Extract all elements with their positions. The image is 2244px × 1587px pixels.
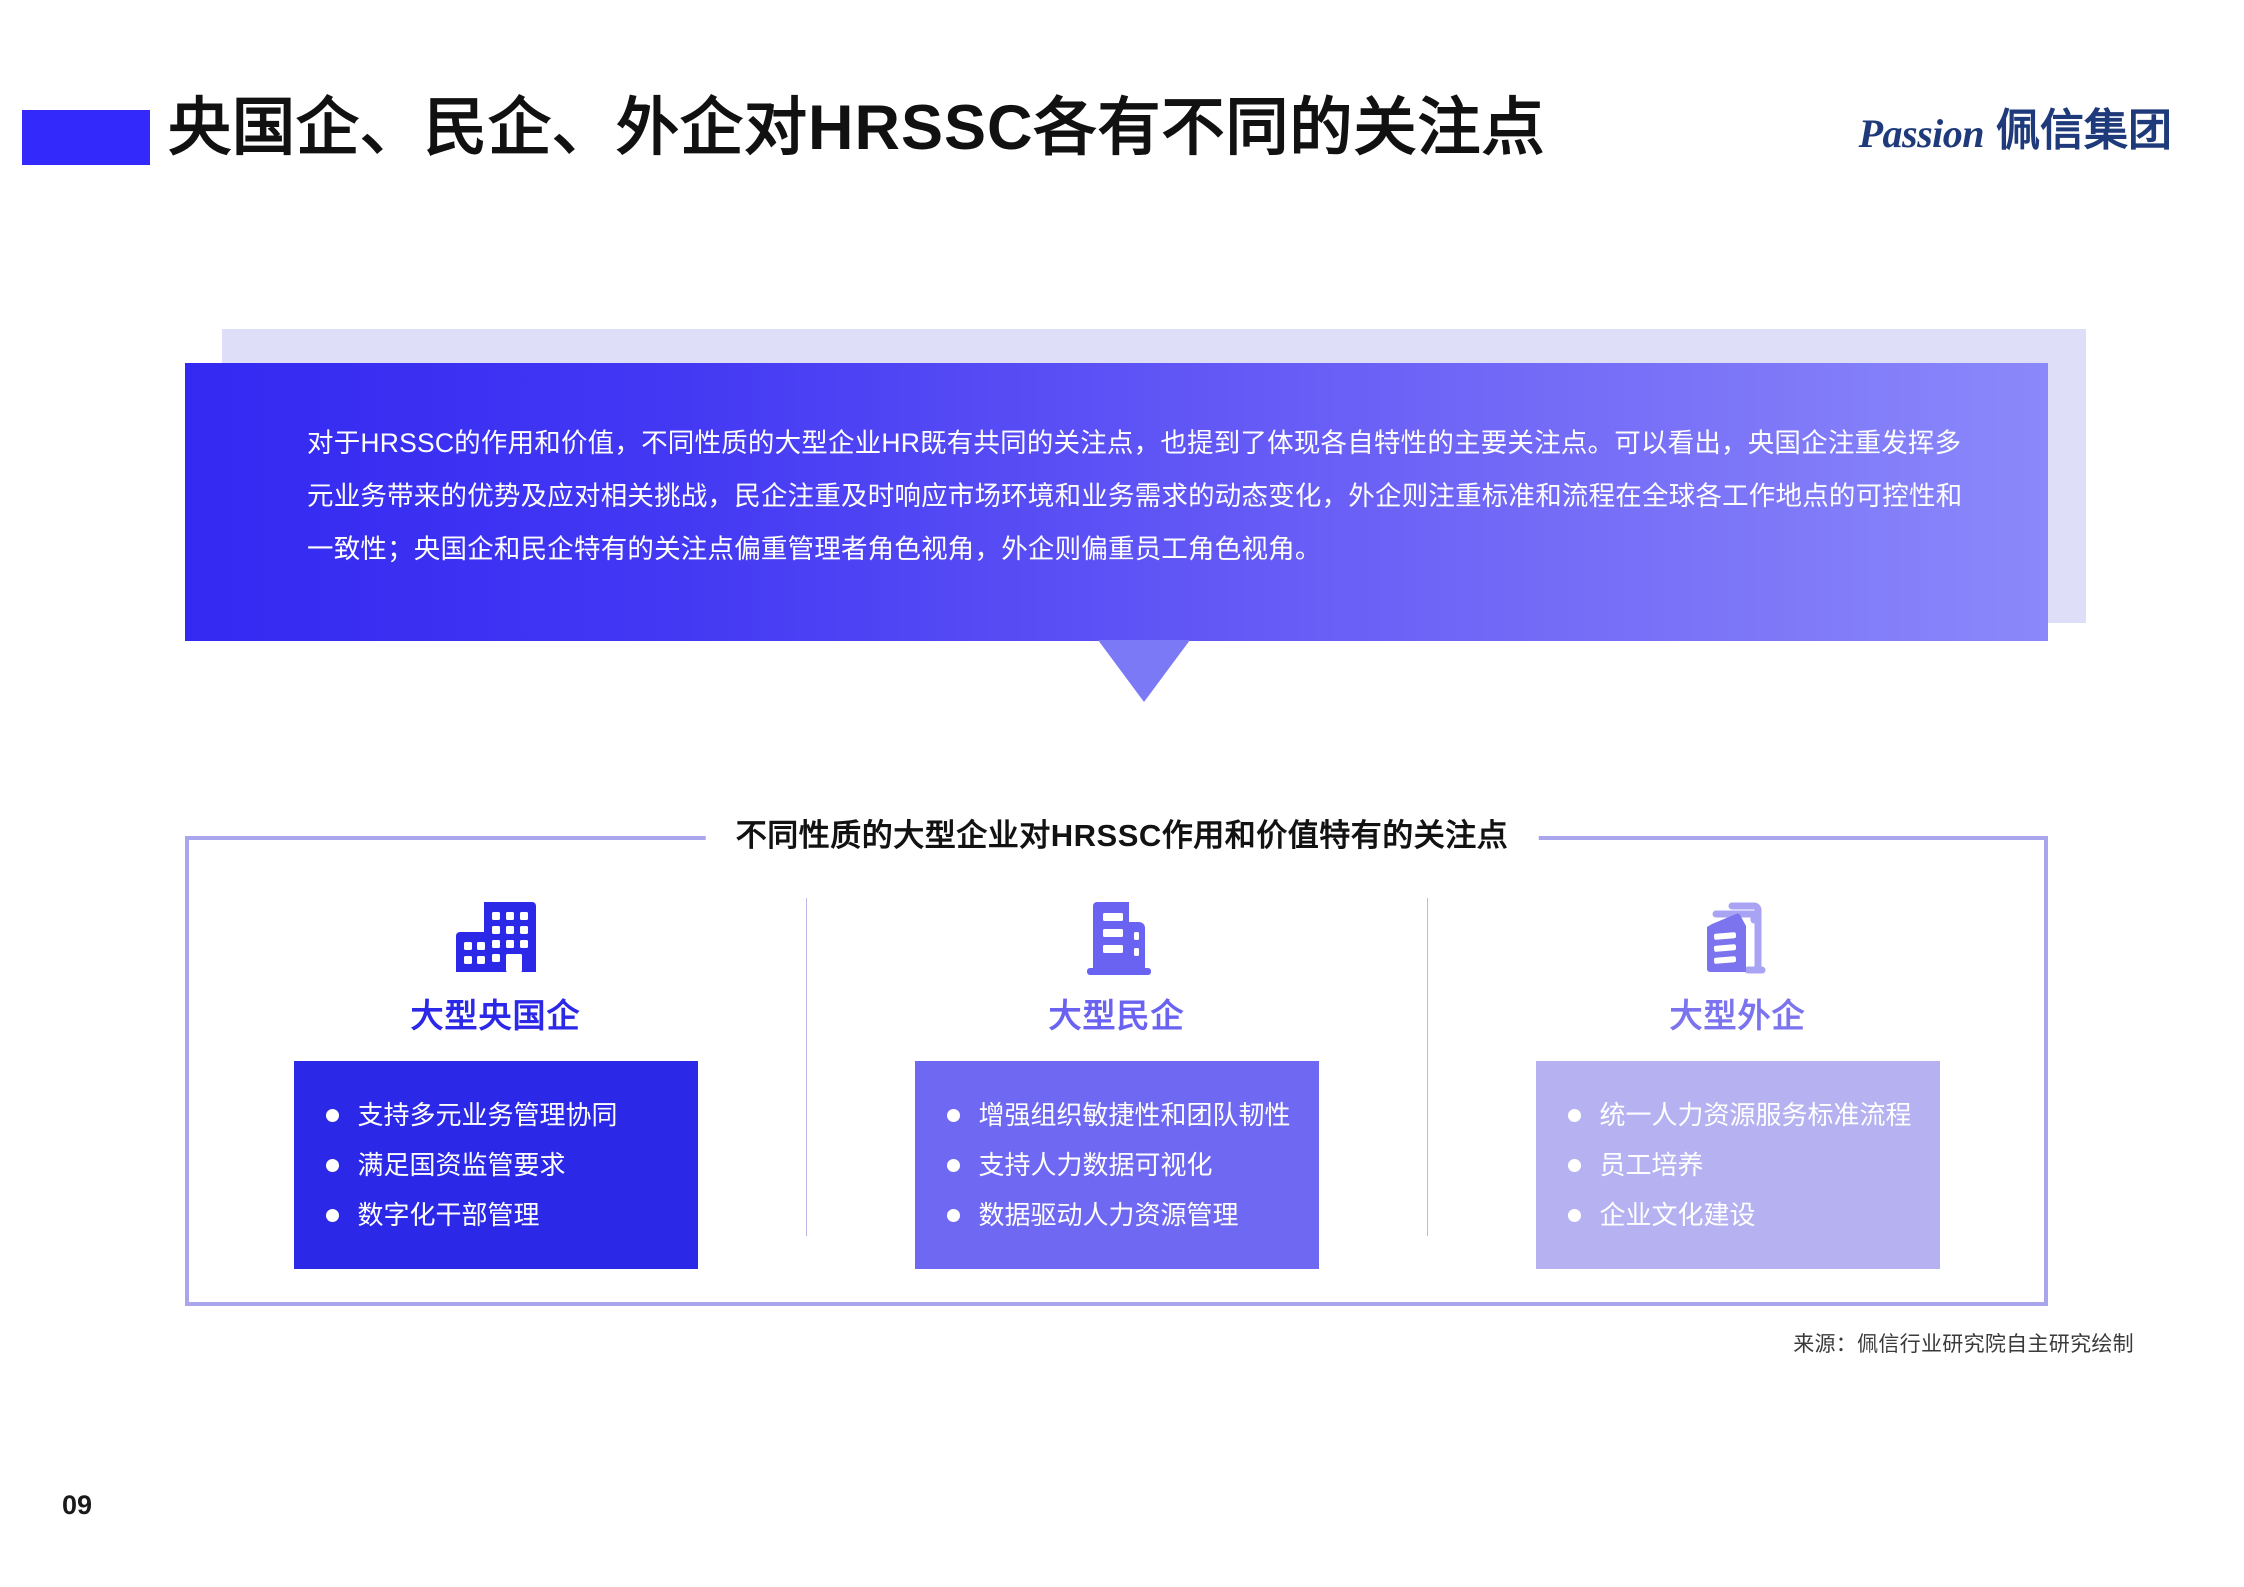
bullet-box-private-enterprise: 增强组织敏捷性和团队韧性 支持人力数据可视化 数据驱动人力资源管理 [915, 1061, 1319, 1269]
bullet-dot-icon [947, 1209, 960, 1222]
office-building-icon [454, 894, 538, 976]
bullet-dot-icon [1568, 1159, 1581, 1172]
intro-banner: 对于HRSSC的作用和价值，不同性质的大型企业HR既有共同的关注点，也提到了体现… [185, 363, 2048, 641]
list-item: 满足国资监管要求 [326, 1140, 668, 1190]
bullet-text: 支持人力数据可视化 [979, 1140, 1213, 1190]
banner-arrow-icon [1098, 640, 1190, 702]
bullet-dot-icon [947, 1159, 960, 1172]
bullet-text: 增强组织敏捷性和团队韧性 [979, 1090, 1291, 1140]
bullet-dot-icon [326, 1209, 339, 1222]
slide-root: 央国企、民企、外企对HRSSC各有不同的关注点 Passion 佩信集团 对于H… [0, 0, 2244, 1587]
bullet-text: 满足国资监管要求 [358, 1140, 566, 1190]
corporate-campus-icon [1696, 894, 1780, 976]
list-item: 支持人力数据可视化 [947, 1140, 1289, 1190]
bullet-dot-icon [326, 1159, 339, 1172]
list-item: 企业文化建设 [1568, 1190, 1910, 1240]
bullet-dot-icon [947, 1109, 960, 1122]
list-item: 支持多元业务管理协同 [326, 1090, 668, 1140]
page-number: 09 [62, 1490, 92, 1521]
list-item: 数据驱动人力资源管理 [947, 1190, 1289, 1240]
header-accent-mark [22, 110, 150, 165]
bullet-text: 数字化干部管理 [358, 1190, 540, 1240]
column-private-enterprise: 大型民企 增强组织敏捷性和团队韧性 支持人力数据可视化 数据驱动人力资源管理 [806, 836, 1427, 1306]
logo-chinese-name: 佩信集团 [1996, 109, 2172, 153]
logo-wordmark: Passion [1859, 108, 1984, 154]
bullet-dot-icon [326, 1109, 339, 1122]
bullet-dot-icon [1568, 1109, 1581, 1122]
column-state-owned: 大型央国企 支持多元业务管理协同 满足国资监管要求 数字化干部管理 [185, 836, 806, 1306]
column-foreign-enterprise: 大型外企 统一人力资源服务标准流程 员工培养 企业文化建设 [1427, 836, 2048, 1306]
bullet-dot-icon [1568, 1209, 1581, 1222]
list-item: 员工培养 [1568, 1140, 1910, 1190]
bullet-text: 数据驱动人力资源管理 [979, 1190, 1239, 1240]
bullet-box-foreign-enterprise: 统一人力资源服务标准流程 员工培养 企业文化建设 [1536, 1061, 1940, 1269]
office-tower-icon [1075, 894, 1159, 976]
bullet-box-state-owned: 支持多元业务管理协同 满足国资监管要求 数字化干部管理 [294, 1061, 698, 1269]
page-title: 央国企、民企、外企对HRSSC各有不同的关注点 [168, 92, 1546, 164]
intro-banner-text: 对于HRSSC的作用和价值，不同性质的大型企业HR既有共同的关注点，也提到了体现… [307, 417, 1978, 576]
brand-logo: Passion 佩信集团 [1859, 100, 2172, 162]
bullet-text: 支持多元业务管理协同 [358, 1090, 618, 1140]
list-item: 增强组织敏捷性和团队韧性 [947, 1090, 1289, 1140]
list-item: 统一人力资源服务标准流程 [1568, 1090, 1910, 1140]
list-item: 数字化干部管理 [326, 1190, 668, 1240]
focus-points-columns: 大型央国企 支持多元业务管理协同 满足国资监管要求 数字化干部管理 [185, 836, 2048, 1306]
column-title-foreign-enterprise: 大型外企 [1670, 998, 1806, 1034]
column-title-private-enterprise: 大型民企 [1049, 998, 1185, 1034]
bullet-text: 统一人力资源服务标准流程 [1600, 1090, 1912, 1140]
bullet-text: 员工培养 [1600, 1140, 1704, 1190]
column-title-state-owned: 大型央国企 [411, 998, 581, 1034]
source-note: 来源：佩信行业研究院自主研究绘制 [1793, 1328, 2134, 1358]
bullet-text: 企业文化建设 [1600, 1190, 1756, 1240]
